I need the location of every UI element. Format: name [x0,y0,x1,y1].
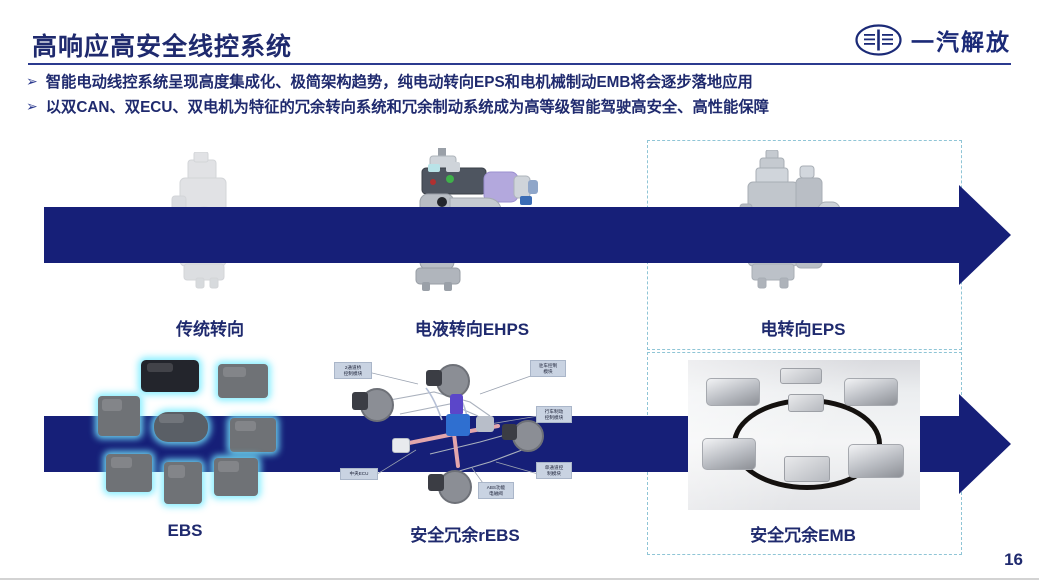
caption-rebs: 安全冗余rEBS [370,521,560,546]
ebs-module [98,396,140,436]
bullet-marker-icon: ➢ [26,99,38,113]
accumulator-cap-icon [450,394,463,414]
caliper [502,424,517,440]
bullet-marker-icon: ➢ [26,74,38,88]
title-underline [28,63,1011,65]
arrow-shaft [44,207,959,263]
emb-control-box [780,368,822,384]
rebs-label-single-channel-module: 单通道控制模块 [536,462,572,479]
arrow-head [959,394,1011,494]
ebs-module [106,454,152,492]
emb-control-box [788,394,824,412]
emb-actuator [848,444,904,478]
brake-modulator [446,414,470,436]
bullet-text: 智能电动线控系统呈现高度集成化、极简架构趋势，纯电动转向EPS和电机械制动EMB… [46,70,753,92]
ecu-box [392,438,410,453]
blue-arrow-band-steering [44,207,1011,263]
bullet-text: 以双CAN、双ECU、双电机为特征的冗余转向系统和冗余制动系统成为高等级智能驾驶… [46,95,769,117]
ebs-module [164,462,202,504]
rebs-label-abs-solenoid: ABS功能电磁阀 [478,482,514,499]
caliper [428,474,444,491]
faw-oval-emblem [855,24,902,56]
bullet-item: ➢ 以双CAN、双ECU、双电机为特征的冗余转向系统和冗余制动系统成为高等级智能… [26,95,1021,117]
valve-block [476,416,494,432]
caliper [352,392,368,410]
arrow-head [959,185,1011,285]
rebs-label-park-module-top: 驻车控制模块 [530,360,566,377]
brand-name: 一汽解放 [911,23,1011,57]
ebs-module [141,360,199,392]
caption-eps: 电转向EPS [708,315,898,340]
caption-emb: 安全冗余EMB [708,521,898,546]
ebs-module [214,458,258,496]
bullet-list: ➢ 智能电动线控系统呈现高度集成化、极简架构趋势，纯电动转向EPS和电机械制动E… [26,70,1021,120]
page-title: 高响应高安全线控系统 [32,27,292,63]
emb-actuator [706,378,760,406]
caption-ehps: 电液转向EHPS [372,315,572,340]
ebs-components-scatter [96,358,336,508]
ebs-module [230,418,276,452]
emb-bench-photo [688,360,920,510]
page-number: 16 [1004,550,1023,570]
rebs-label-central-ecu: 中央ECU [340,468,378,480]
caption-conventional-steering: 传统转向 [120,315,300,340]
brand-logo: 一汽解放 [855,20,1011,60]
emb-actuator [702,438,756,470]
bullet-item: ➢ 智能电动线控系统呈现高度集成化、极简架构趋势，纯电动转向EPS和电机械制动E… [26,70,1021,92]
caption-ebs: EBS [130,521,240,541]
caliper [426,370,442,386]
rebs-label-service-brake-module: 行车制动控制模块 [536,406,572,423]
ebs-module [218,364,268,398]
rebs-system-schematic: 2通道桥控制模块 驻车控制模块 行车制动控制模块 单通道控制模块 中央ECU A… [330,358,592,506]
slide-root: 高响应高安全线控系统 一汽解放 ➢ 智能电动线控系统呈现高度集成化、极简架构趋势… [0,0,1039,580]
emb-control-box [784,456,830,482]
rebs-label-axle-2ch-module: 2通道桥控制模块 [334,362,372,379]
ebs-module [154,412,208,442]
emb-actuator [844,378,898,406]
